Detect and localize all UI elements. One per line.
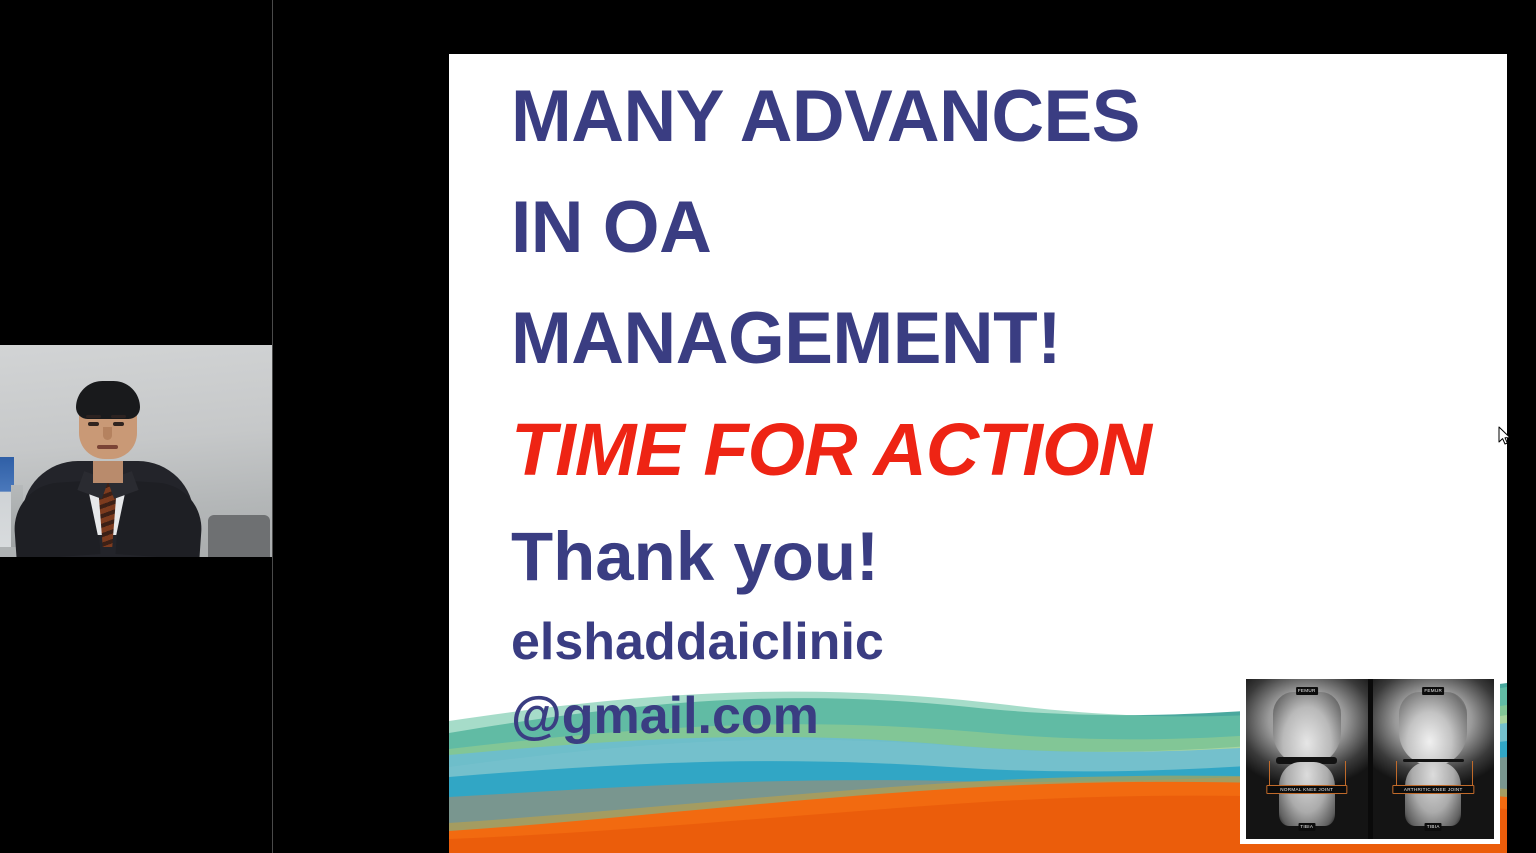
xray-arthritic-knee: FEMUR ARTHRITIC KNEE JOINT TIBIA [1373,679,1495,839]
presenter-hair [76,381,140,419]
presenter-mouth [97,445,118,449]
xray-label-femur-normal: FEMUR [1296,687,1318,695]
slide-thank-you: Thank you! [511,508,1431,606]
knee-xray-comparison-image: FEMUR NORMAL KNEE JOINT TIBIA FEMUR ARTH… [1240,674,1500,844]
slide-title-line-2: IN OA [511,173,1431,284]
xray-label-joint-normal: NORMAL KNEE JOINT [1266,785,1347,795]
slide-text-block: MANY ADVANCES IN OA MANAGEMENT! TIME FOR… [511,62,1431,754]
xray-label-tibia-normal: TIBIA [1298,823,1315,831]
xray-normal-knee: FEMUR NORMAL KNEE JOINT TIBIA [1246,679,1368,839]
panel-divider [272,0,273,853]
presenter-eyebrow-right [111,415,126,418]
joint-caliper-normal [1269,761,1346,787]
shared-slide[interactable]: MANY ADVANCES IN OA MANAGEMENT! TIME FOR… [449,54,1507,853]
presenter-neck [93,461,123,483]
slide-title-line-1: MANY ADVANCES [511,62,1431,173]
xray-label-tibia-arthritic: TIBIA [1425,823,1442,831]
presenter-eye-left [88,422,99,426]
presenter-eyebrow-left [86,415,101,418]
joint-caliper-arthritic [1396,761,1473,787]
slide-email-line-1: elshaddaiclinic [511,606,1431,680]
slide-call-to-action: TIME FOR ACTION [511,397,1431,502]
xray-label-femur-arthritic: FEMUR [1422,687,1444,695]
participant-panel [0,0,272,853]
presenter-eye-right [113,422,124,426]
screen-share-viewport: MANY ADVANCES IN OA MANAGEMENT! TIME FOR… [0,0,1536,853]
presenter-webcam-tile[interactable] [0,345,272,557]
femur-bone-normal [1273,692,1341,766]
presenter-figure [0,345,272,557]
xray-label-joint-arthritic: ARTHRITIC KNEE JOINT [1393,785,1474,795]
femur-bone-arthritic [1399,692,1467,766]
slide-title-line-3: MANAGEMENT! [511,284,1431,395]
presenter-nose [103,427,112,440]
